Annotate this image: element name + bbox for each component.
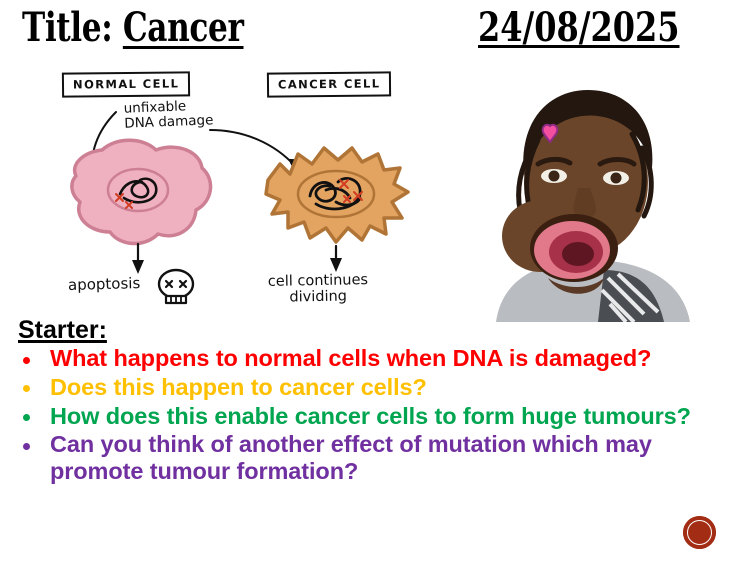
photo-artwork (478, 64, 706, 322)
starter-question-3: How does this enable cancer cells to for… (14, 403, 714, 430)
normal-cell-tag: NORMAL CELL (62, 71, 191, 97)
starter-question-3-text: How does this enable cancer cells to for… (50, 403, 691, 429)
starter-heading: Starter: (18, 316, 107, 345)
cell-dividing-label: cell continues dividing (268, 272, 369, 306)
cancer-cell-tag: CANCER CELL (267, 71, 392, 97)
slide-date: 24/08/2025 (478, 8, 680, 48)
apoptosis-label: apoptosis (68, 275, 141, 294)
bullet-dot-3 (23, 414, 30, 421)
skull-icon (159, 270, 193, 303)
page-title: Title: Cancer (22, 8, 244, 48)
circular-logo (683, 516, 716, 549)
page-title-prefix: Title: (22, 4, 123, 51)
tumour-patient-photo (478, 64, 706, 322)
page-title-subject: Cancer (123, 4, 244, 51)
starter-question-1: What happens to normal cells when DNA is… (14, 345, 714, 372)
starter-question-2: Does this happen to cancer cells? (14, 374, 714, 401)
bullet-dot-2 (23, 385, 30, 392)
starter-question-4: Can you think of another effect of mutat… (14, 431, 714, 485)
starter-question-2-text: Does this happen to cancer cells? (50, 374, 427, 400)
bullet-dot-1 (23, 357, 30, 364)
slide-canvas: Title: Cancer 24/08/2025 (0, 0, 750, 563)
starter-question-4-text: Can you think of another effect of mutat… (50, 431, 652, 484)
starter-question-list: What happens to normal cells when DNA is… (14, 345, 714, 487)
starter-question-1-text: What happens to normal cells when DNA is… (50, 345, 651, 371)
bullet-dot-4 (23, 443, 30, 450)
dna-damage-annotation: unfixable DNA damage (123, 98, 213, 132)
cell-comparison-diagram: NORMAL CELL CANCER CELL unfixable DNA da… (40, 68, 440, 323)
